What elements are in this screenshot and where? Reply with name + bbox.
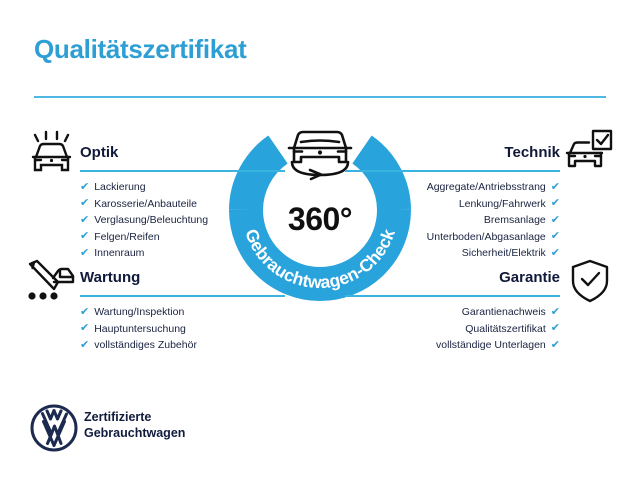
car-checkbox-icon: [562, 128, 614, 181]
section-header: Wartung: [80, 268, 295, 294]
list-item-label: Qualitätszertifikat: [465, 321, 546, 338]
section-title: Wartung: [80, 268, 295, 288]
list-item: Unterboden/Abgasanlage✔: [345, 229, 560, 246]
list-item-label: Verglasung/Beleuchtung: [94, 212, 208, 229]
list-item: ✔Felgen/Reifen: [80, 229, 295, 246]
list-item: Bremsanlage✔: [345, 212, 560, 229]
list-item: ✔Innenraum: [80, 245, 295, 262]
list-item-label: Felgen/Reifen: [94, 229, 159, 246]
check-icon: ✔: [80, 182, 89, 193]
list-item: Aggregate/Antriebsstrang✔: [345, 179, 560, 196]
check-icon: ✔: [80, 307, 89, 318]
check-icon: ✔: [80, 340, 89, 351]
list-item: vollständige Unterlagen✔: [345, 337, 560, 354]
section-technik: Technik Aggregate/Antriebsstrang✔ Lenkun…: [345, 143, 560, 262]
check-icon: ✔: [80, 323, 89, 334]
vw-logo-text: Zertifizierte Gebrauchtwagen: [84, 409, 185, 441]
check-icon: ✔: [551, 307, 560, 318]
title-divider: [34, 96, 606, 98]
list-item: ✔Verglasung/Beleuchtung: [80, 212, 295, 229]
vw-logo-text-line1: Zertifizierte: [84, 409, 185, 425]
page-title: Qualitätszertifikat: [34, 34, 246, 65]
section-header: Optik: [80, 143, 295, 169]
list-item: ✔Hauptuntersuchung: [80, 321, 295, 338]
list-item: ✔Wartung/Inspektion: [80, 304, 295, 321]
shield-check-icon: [568, 258, 612, 311]
section-header: Garantie: [345, 268, 560, 294]
list-item-label: Lackierung: [94, 179, 145, 196]
list-item: Qualitätszertifikat✔: [345, 321, 560, 338]
section-optik: Optik ✔Lackierung ✔Karosserie/Anbauteile…: [80, 143, 295, 262]
checklist: Aggregate/Antriebsstrang✔ Lenkung/Fahrwe…: [345, 179, 560, 262]
list-item-label: Hauptuntersuchung: [94, 321, 186, 338]
section-header: Technik: [345, 143, 560, 169]
list-item: ✔Karosserie/Anbauteile: [80, 196, 295, 213]
list-item-label: Bremsanlage: [484, 212, 546, 229]
list-item: Lenkung/Fahrwerk✔: [345, 196, 560, 213]
section-title: Garantie: [345, 268, 560, 288]
check-icon: ✔: [80, 215, 89, 226]
check-icon: ✔: [551, 215, 560, 226]
list-item: ✔vollständiges Zubehör: [80, 337, 295, 354]
list-item-label: vollständiges Zubehör: [94, 337, 197, 354]
list-item-label: Karosserie/Anbauteile: [94, 196, 197, 213]
list-item: Garantienachweis✔: [345, 304, 560, 321]
list-item-label: Sicherheit/Elektrik: [462, 245, 546, 262]
list-item: ✔Lackierung: [80, 179, 295, 196]
list-item: Sicherheit/Elektrik✔: [345, 245, 560, 262]
section-title: Technik: [345, 143, 560, 163]
list-item-label: Aggregate/Antriebsstrang: [427, 179, 546, 196]
check-icon: ✔: [80, 198, 89, 209]
list-item-label: Unterboden/Abgasanlage: [427, 229, 546, 246]
checklist: ✔Wartung/Inspektion ✔Hauptuntersuchung ✔…: [80, 304, 295, 354]
section-title: Optik: [80, 143, 295, 163]
check-icon: ✔: [551, 323, 560, 334]
vw-logo: [30, 404, 78, 457]
check-icon: ✔: [551, 231, 560, 242]
check-icon: ✔: [80, 248, 89, 259]
list-item-label: vollständige Unterlagen: [436, 337, 546, 354]
section-divider: [345, 170, 560, 172]
vw-logo-text-line2: Gebrauchtwagen: [84, 425, 185, 441]
checklist: ✔Lackierung ✔Karosserie/Anbauteile ✔Verg…: [80, 179, 295, 262]
car-shine-icon: [26, 130, 78, 183]
checklist: Garantienachweis✔ Qualitätszertifikat✔ v…: [345, 304, 560, 354]
check-icon: ✔: [551, 198, 560, 209]
section-divider: [80, 170, 285, 172]
check-icon: ✔: [551, 248, 560, 259]
car-service-pen-icon: [24, 258, 78, 311]
check-icon: ✔: [80, 231, 89, 242]
list-item-label: Lenkung/Fahrwerk: [459, 196, 546, 213]
section-divider: [80, 295, 285, 297]
list-item-label: Innenraum: [94, 245, 144, 262]
section-wartung: Wartung ✔Wartung/Inspektion ✔Hauptunters…: [80, 268, 295, 354]
section-garantie: Garantie Garantienachweis✔ Qualitätszert…: [345, 268, 560, 354]
certificate-page: Qualitätszertifikat: [0, 0, 640, 480]
list-item-label: Wartung/Inspektion: [94, 304, 184, 321]
section-divider: [345, 295, 560, 297]
check-icon: ✔: [551, 340, 560, 351]
check-icon: ✔: [551, 182, 560, 193]
list-item-label: Garantienachweis: [462, 304, 546, 321]
